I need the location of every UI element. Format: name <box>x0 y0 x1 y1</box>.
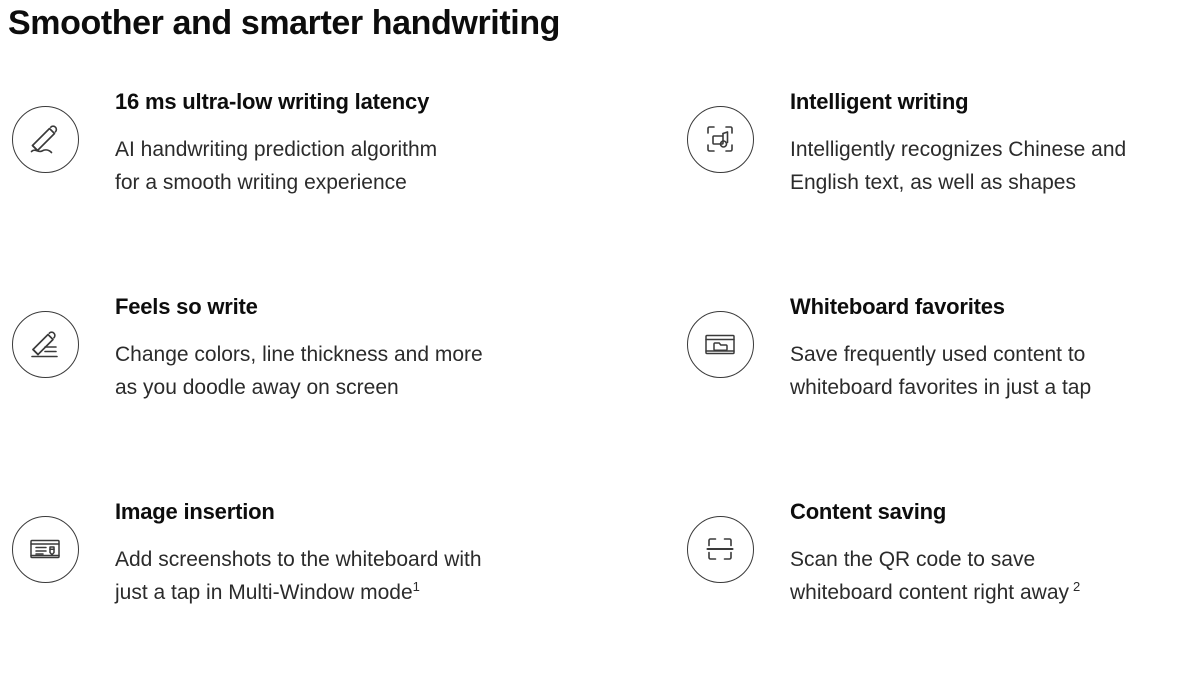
qr-scan-icon <box>687 516 754 583</box>
feature-desc-line-2: whiteboard favorites in just a tap <box>790 376 1091 399</box>
icon-slot <box>686 515 754 583</box>
feature-text-block: Feels so write Change colors, line thick… <box>115 283 483 404</box>
feature-text-block: 16 ms ultra-low writing latency AI handw… <box>115 78 437 199</box>
feature-desc-line-2: English text, as well as shapes <box>790 171 1076 194</box>
feature-title: Feels so write <box>115 294 483 320</box>
feature-text-block: Intelligent writing Intelligently recogn… <box>790 78 1126 199</box>
feature-desc-line-2: as you doodle away on screen <box>115 376 399 399</box>
feature-grid: 16 ms ultra-low writing latency AI handw… <box>0 70 1200 685</box>
feature-item-image-insertion: Image insertion Add screenshots to the w… <box>0 480 675 685</box>
pen-writing-icon <box>12 106 79 173</box>
feature-description: Change colors, line thickness and more a… <box>115 338 483 404</box>
scan-shapes-icon <box>687 106 754 173</box>
feature-desc-line-2: whiteboard content right away <box>790 581 1069 604</box>
board-folder-icon <box>687 311 754 378</box>
feature-item-intelligent-writing: Intelligent writing Intelligently recogn… <box>675 70 1200 275</box>
feature-title: 16 ms ultra-low writing latency <box>115 89 437 115</box>
feature-description: Scan the QR code to save whiteboard cont… <box>790 543 1080 609</box>
feature-desc-line-1: Intelligently recognizes Chinese and <box>790 138 1126 161</box>
feature-desc-line-2: just a tap in Multi-Window mode <box>115 581 413 604</box>
feature-item-whiteboard-favorites: Whiteboard favorites Save frequently use… <box>675 275 1200 480</box>
icon-slot <box>686 310 754 378</box>
page-title: Smoother and smarter handwriting <box>8 4 560 43</box>
footnote-marker: 1 <box>413 579 420 594</box>
pencil-lines-icon <box>12 311 79 378</box>
feature-description: AI handwriting prediction algorithm for … <box>115 133 437 199</box>
feature-title: Content saving <box>790 499 1080 525</box>
feature-text-block: Whiteboard favorites Save frequently use… <box>790 283 1091 404</box>
feature-description: Intelligently recognizes Chinese and Eng… <box>790 133 1126 199</box>
feature-highlights-page: Smoother and smarter handwriting 16 ms u… <box>0 0 1200 622</box>
feature-item-content-saving: Content saving Scan the QR code to save … <box>675 480 1200 685</box>
feature-item-feels-so-write: Feels so write Change colors, line thick… <box>0 275 675 480</box>
icon-slot <box>686 105 754 173</box>
feature-desc-line-2: for a smooth writing experience <box>115 171 407 194</box>
feature-desc-line-1: Add screenshots to the whiteboard with <box>115 548 482 571</box>
feature-title: Whiteboard favorites <box>790 294 1091 320</box>
feature-text-block: Image insertion Add screenshots to the w… <box>115 488 482 609</box>
footnote-marker: 2 <box>1073 579 1080 594</box>
feature-desc-line-1: Change colors, line thickness and more <box>115 343 483 366</box>
whiteboard-pen-icon <box>12 516 79 583</box>
icon-slot <box>11 105 79 173</box>
feature-title: Intelligent writing <box>790 89 1126 115</box>
icon-slot <box>11 310 79 378</box>
feature-desc-line-1: Scan the QR code to save <box>790 548 1035 571</box>
feature-title: Image insertion <box>115 499 482 525</box>
feature-description: Add screenshots to the whiteboard with j… <box>115 543 482 609</box>
feature-desc-line-1: AI handwriting prediction algorithm <box>115 138 437 161</box>
icon-slot <box>11 515 79 583</box>
feature-description: Save frequently used content to whiteboa… <box>790 338 1091 404</box>
feature-desc-line-1: Save frequently used content to <box>790 343 1085 366</box>
feature-text-block: Content saving Scan the QR code to save … <box>790 488 1080 609</box>
feature-item-writing-latency: 16 ms ultra-low writing latency AI handw… <box>0 70 675 275</box>
